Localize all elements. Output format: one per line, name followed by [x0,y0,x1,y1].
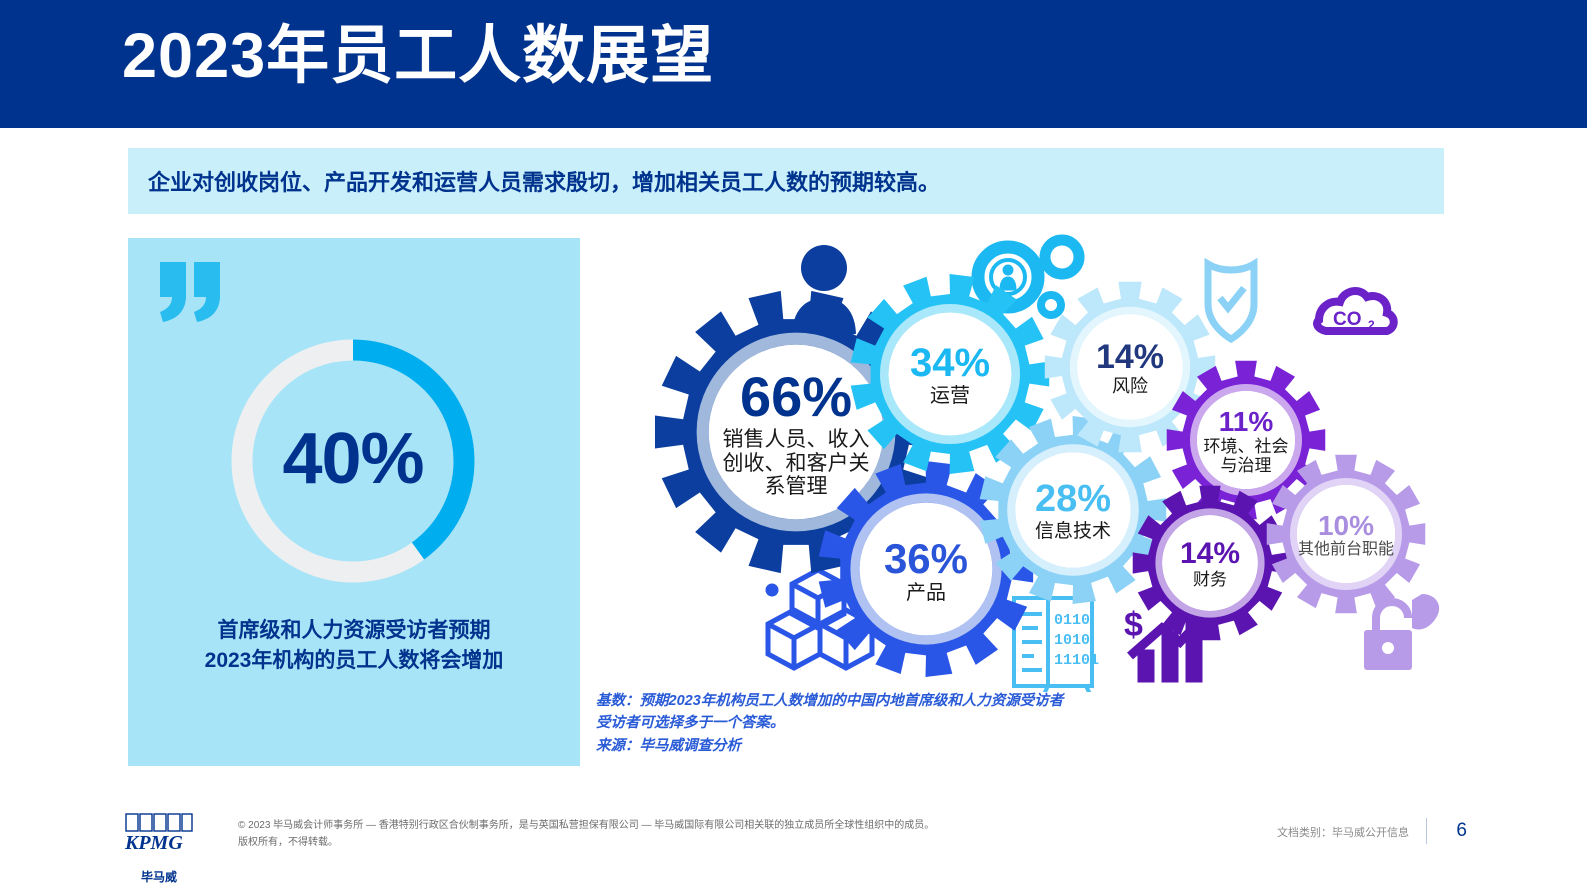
svg-text:11101: 11101 [1054,652,1099,669]
page-number: 6 [1456,820,1467,842]
svg-text:0110: 0110 [1054,612,1090,629]
kpmg-logo: KPMG [124,812,194,868]
subtitle-text: 企业对创收岗位、产品开发和运营人员需求殷切，增加相关员工人数的预期较高。 [148,165,940,197]
stat-caption-line1: 首席级和人力资源受访者预期 [128,616,580,646]
stat-panel: 40% 首席级和人力资源受访者预期 2023年机构的员工人数将会增加 [128,238,580,766]
gear-face-product [860,503,993,636]
svg-text:KPMG: KPMG [124,832,183,854]
gear-face-it [1015,452,1131,568]
shield-check-icon [1208,264,1254,339]
gear-face-other_fo [1297,485,1395,583]
co2-cloud-icon: CO 2 [1317,291,1394,332]
footer-divider [1426,818,1427,844]
stat-caption-line2: 2023年机构的员工人数将会增加 [128,646,580,676]
svg-text:1010: 1010 [1054,632,1090,649]
footnote-line-2: 受访者可选择多于一个答案。 [596,712,1236,734]
gear-cluster-svg: CO 2 0110 1010 11101 [596,232,1456,692]
gears-layer [655,274,1425,677]
gear-face-finance [1162,515,1258,611]
donut-value-text: 40% [282,418,423,500]
footnote: 基数：预期2023年机构员工人数增加的中国内地首席级和人力资源受访者 受访者可选… [596,690,1236,757]
doc-classification: 文档类别：毕马威公开信息 [1277,824,1409,840]
donut-chart: 40% [218,326,488,596]
copyright-line-2: 版权所有，不得转载。 [238,835,938,852]
gear-cluster: CO 2 0110 1010 11101 [596,232,1456,692]
footnote-line-3: 来源：毕马威调查分析 [596,735,1236,757]
footnote-line-1: 基数：预期2023年机构员工人数增加的中国内地首席级和人力资源受访者 [596,690,1236,712]
code-monitor-icon: 0110 1010 11101 [1014,598,1099,692]
svg-text:2: 2 [1368,318,1375,332]
kpmg-logo-cn: 毕马威 [124,868,194,885]
slide-root: 2023年员工人数展望 企业对创收岗位、产品开发和运营人员需求殷切，增加相关员工… [0,0,1587,892]
page-title: 2023年员工人数展望 [122,22,714,91]
footer: KPMG 毕马威 © 2023 毕马威会计师事务所 — 香港特别行政区合伙制事务… [0,800,1587,892]
gear-face-esg [1197,391,1295,489]
gear-face-risk [1077,314,1183,420]
stat-caption: 首席级和人力资源受访者预期 2023年机构的员工人数将会增加 [128,616,580,677]
subtitle-banner: 企业对创收岗位、产品开发和运营人员需求殷切，增加相关员工人数的预期较高。 [128,148,1444,214]
copyright-line-1: © 2023 毕马威会计师事务所 — 香港特别行政区合伙制事务所，是与英国私营担… [238,818,938,835]
quote-mark-icon [160,262,226,322]
svg-text:$: $ [1124,606,1143,644]
svg-text:CO: CO [1333,309,1362,330]
donut-center-label: 40% [218,326,488,596]
gear-face-operations [889,313,1012,436]
copyright-text: © 2023 毕马威会计师事务所 — 香港特别行政区合伙制事务所，是与英国私营担… [238,818,938,851]
